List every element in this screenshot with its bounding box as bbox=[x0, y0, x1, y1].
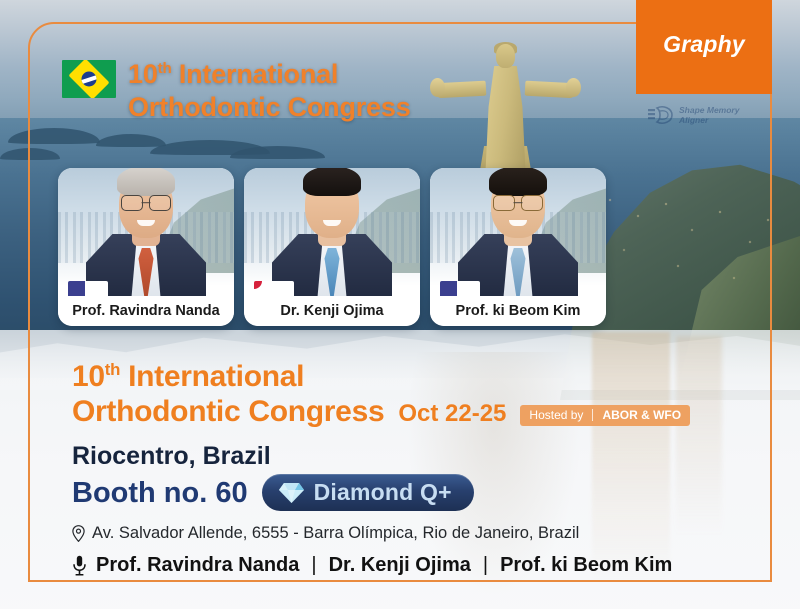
speaker-name: Prof. ki Beom Kim bbox=[430, 296, 606, 326]
speaker-portrait bbox=[269, 168, 395, 296]
booth-row: Booth no. 60 Diamond Q+ bbox=[72, 474, 762, 511]
event-title-line-2: Orthodontic Congress bbox=[72, 394, 384, 429]
brazil-flag-icon bbox=[62, 60, 116, 98]
flag-sun-disc bbox=[254, 281, 262, 289]
tier-label: Diamond Q+ bbox=[314, 479, 452, 506]
address-text: Av. Salvador Allende, 6555 - Barra Olímp… bbox=[92, 524, 579, 543]
speaker-name: Prof. Ravindra Nanda bbox=[58, 296, 234, 326]
hosted-by-badge: Hosted by ABOR & WFO bbox=[520, 405, 690, 426]
graphy-tagline: Shape Memory Aligner bbox=[648, 104, 770, 126]
speaker-card[interactable]: Dr. Kenji Ojima bbox=[244, 168, 420, 326]
portrait-glasses bbox=[493, 195, 543, 210]
congress-promo-banner: Graphy Shape Memory Aligner 10th Interna… bbox=[0, 0, 800, 609]
speaker-name: Dr. Kenji Ojima bbox=[244, 296, 420, 326]
hosted-by-orgs: ABOR & WFO bbox=[602, 408, 681, 422]
header-title-text: 10th International Orthodontic Congress bbox=[128, 52, 411, 124]
speaker-portrait bbox=[83, 168, 209, 296]
diamond-gem-icon bbox=[278, 482, 305, 504]
aligner-logo-icon bbox=[648, 104, 674, 126]
statue-hand-left bbox=[430, 78, 445, 97]
header-ordinal-suffix: th bbox=[158, 60, 172, 77]
graphy-logo-text: Graphy bbox=[663, 31, 745, 58]
microphone-icon bbox=[72, 555, 87, 576]
city-lights bbox=[600, 190, 800, 310]
venue-name: Riocentro, Brazil bbox=[72, 441, 762, 471]
header-line-2: Orthodontic Congress bbox=[128, 92, 411, 122]
sponsor-tier-badge: Diamond Q+ bbox=[262, 474, 474, 511]
venue-address: Av. Salvador Allende, 6555 - Barra Olímp… bbox=[72, 524, 762, 543]
header-line-1: International bbox=[172, 59, 339, 89]
speaker-card[interactable]: Prof. Ravindra Nanda bbox=[58, 168, 234, 326]
portrait-glasses bbox=[121, 195, 171, 210]
flag-canton bbox=[68, 281, 85, 296]
speaker-name-2: Dr. Kenji Ojima bbox=[329, 554, 471, 577]
speaker-name-1: Prof. Ravindra Nanda bbox=[96, 554, 299, 577]
speaker-name-3: Prof. ki Beom Kim bbox=[500, 554, 672, 577]
flag-globe bbox=[82, 72, 97, 87]
speaker-card-list: Prof. Ravindra Nanda bbox=[58, 168, 606, 326]
speaker-portrait bbox=[455, 168, 581, 296]
header-ordinal: 10 bbox=[128, 59, 158, 89]
portrait-hair bbox=[489, 168, 547, 196]
badge-divider bbox=[592, 409, 593, 421]
event-title-row-2: Orthodontic Congress Oct 22-25 Hosted by… bbox=[72, 394, 762, 429]
booth-number: Booth no. 60 bbox=[72, 476, 248, 510]
event-title-line-1: 10th International bbox=[72, 352, 762, 394]
portrait-hair bbox=[303, 168, 361, 196]
statue-head bbox=[496, 44, 515, 68]
event-info-panel: 10th International Orthodontic Congress … bbox=[72, 352, 762, 577]
speaker-photo bbox=[430, 168, 606, 296]
flag-canton bbox=[440, 281, 457, 296]
event-ordinal: 10 bbox=[72, 360, 105, 393]
speaker-lineup: Prof. Ravindra Nanda | Dr. Kenji Ojima |… bbox=[72, 554, 762, 577]
speaker-photo bbox=[244, 168, 420, 296]
event-title-rest-1: International bbox=[120, 360, 304, 393]
graphy-logo-block: Graphy bbox=[636, 0, 772, 94]
location-pin-icon bbox=[72, 525, 85, 542]
tagline-line-1: Shape Memory bbox=[679, 105, 739, 115]
aligner-tagline-text: Shape Memory Aligner bbox=[679, 105, 739, 125]
event-ordinal-suffix: th bbox=[105, 360, 120, 379]
event-dates: Oct 22-25 bbox=[398, 400, 506, 428]
header-title-block: 10th International Orthodontic Congress bbox=[62, 52, 411, 124]
portrait-hair bbox=[117, 168, 175, 196]
speaker-photo bbox=[58, 168, 234, 296]
hosted-by-label: Hosted by bbox=[529, 408, 583, 422]
tagline-line-2: Aligner bbox=[679, 115, 708, 125]
speaker-card[interactable]: Prof. ki Beom Kim bbox=[430, 168, 606, 326]
statue-hand-right bbox=[566, 78, 581, 97]
flag-band bbox=[82, 74, 97, 85]
speaker-separator: | bbox=[308, 554, 319, 577]
speaker-separator: | bbox=[480, 554, 491, 577]
